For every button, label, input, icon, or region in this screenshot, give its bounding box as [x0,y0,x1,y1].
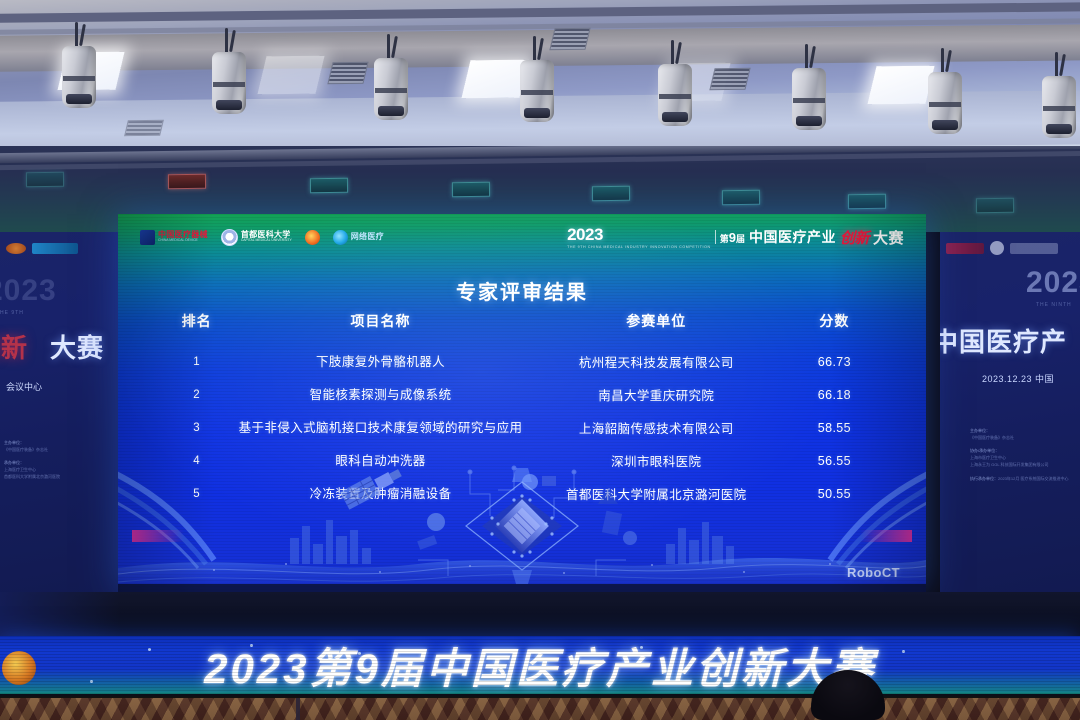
left-poster-venue: 会议中心 [6,380,42,393]
cell-rank: 1 [160,345,233,378]
tech-circuit-chip-artwork [118,464,926,592]
left-poster-fine-print: 主办单位：《中国医疗装备》杂志社 承办单位：上海医疗卫生中心首都医科大学附属北京… [4,440,60,481]
event-logo-name: 中国医疗产业 [749,227,836,247]
cell-unit: 杭州程天科技发展有限公司 [528,345,785,378]
right-poster-date: 2023.12.23 中国 [982,372,1054,385]
column-header-rank: 排名 [160,310,233,345]
cell-score: 66.18 [785,378,884,411]
left-poster-title-accent: 创新 [0,328,28,365]
sponsor-1-sub: CHINA MEDICAL DEVICE [158,239,208,242]
sponsor-2-sub: CAPITAL MEDICAL UNIVERSITY [241,239,292,242]
banner-sparkle [148,648,151,651]
event-logo-year: 2023 [567,225,603,244]
event-edition-suffix: 届 [736,234,745,244]
fascia-led-strip [310,178,348,193]
cell-rank: 2 [160,378,233,411]
cell-unit: 上海韶脑传感技术有限公司 [528,411,785,444]
poster-logo [1010,243,1058,254]
robotct-watermark: RoboCT [847,565,900,580]
sponsor-logo-3 [305,229,320,245]
stage-front-band [0,592,1080,638]
sponsor-logo-4: 网络医疗 [333,229,384,245]
right-poster-logos [946,240,1074,256]
cell-unit: 南昌大学重庆研究院 [528,378,785,411]
table-header-row: 排名 项目名称 参赛单位 分数 [160,310,884,345]
ceiling-panel-light [257,56,324,95]
fascia-led-strip [26,172,64,187]
ceiling-panel-light [461,60,528,99]
carpet-floor [0,698,1080,720]
left-poster-year: 2023 [0,274,57,308]
sponsor-4-name: 网络医疗 [351,233,384,241]
ceiling-vent [709,68,750,90]
ceiling-panel-light [867,66,934,105]
right-wall-poster: 2023 THE NINTH 中国医疗产 2023.12.23 中国 主办单位：… [940,232,1080,604]
poster-logo [946,243,984,254]
left-swoosh [118,470,214,568]
fascia-led-strip [976,198,1014,213]
sponsor-mark-icon [221,229,238,246]
cell-project: 基于非侵入式脑机接口技术康复领域的研究与应用 [233,411,528,444]
sponsor-logo-2: 首都医科大学 CAPITAL MEDICAL UNIVERSITY [221,229,292,245]
sponsor-mark-icon [333,230,348,245]
stage-band-glow [0,592,120,638]
ceiling-vent [124,120,164,136]
sponsor-logo-1: 中国医疗器械 CHINA MEDICAL DEVICE [140,229,208,245]
cell-rank: 3 [160,411,233,444]
right-swoosh [830,470,926,568]
fascia-led-strip [722,190,760,205]
event-edition-prefix: 第 [720,234,729,244]
banner-sparkle [358,652,361,655]
ceiling [0,0,1080,150]
ceiling-vent [549,28,590,50]
main-led-screen: 中国医疗器械 CHINA MEDICAL DEVICE 首都医科大学 CAPIT… [118,214,926,592]
cell-score: 58.55 [785,411,884,444]
cell-project: 智能核素探测与成像系统 [233,378,528,411]
banner-text: 2023第9届中国医疗产业创新大赛 [0,636,1080,696]
cell-project: 下肢康复外骨骼机器人 [233,345,528,378]
banner-sparkle [902,650,905,653]
fascia-led-strip [168,174,206,189]
table-row: 3 基于非侵入式脑机接口技术康复领域的研究与应用 上海韶脑传感技术有限公司 58… [160,411,884,444]
column-header-unit: 参赛单位 [528,310,785,345]
poster-logo [6,243,26,254]
event-logo-year-sub: THE 9TH CHINA MEDICAL INDUSTRY INNOVATIO… [567,245,711,249]
event-logo-tail: 大赛 [873,227,904,248]
right-poster-title: 中国医疗产 [940,322,1067,359]
cell-score: 66.73 [785,345,884,378]
table-row: 2 智能核素探测与成像系统 南昌大学重庆研究院 66.18 [160,378,884,411]
sponsor-mark-icon [140,230,155,245]
left-poster-year-sub: THE 9TH [0,310,24,316]
right-poster-year-sub: THE NINTH [1036,302,1072,308]
left-poster-logos [6,240,116,256]
slide-title: 专家评审结果 [118,276,926,305]
ceiling-vent [327,62,368,84]
event-logo: 2023 THE 9TH CHINA MEDICAL INDUSTRY INNO… [567,225,904,249]
column-header-score: 分数 [785,310,884,345]
event-logo-divider [715,230,716,244]
conference-hall-photo: 2023 THE 9TH 创新 大赛 会议中心 主办单位：《中国医疗装备》杂志社… [0,0,1080,720]
right-poster-year: 2023 [1026,266,1080,300]
fascia-led-strip [848,194,886,209]
stage-support-post [296,698,300,720]
event-edition-number: 9 [729,230,736,245]
banner-sparkle [90,680,93,683]
table-row: 1 下肢康复外骨骼机器人 杭州程天科技发展有限公司 66.73 [160,345,884,378]
sponsor-logo-strip: 中国医疗器械 CHINA MEDICAL DEVICE 首都医科大学 CAPIT… [140,229,384,245]
slide-header: 中国医疗器械 CHINA MEDICAL DEVICE 首都医科大学 CAPIT… [118,222,926,252]
right-poster-fine-print: 主办单位：《中国医疗装备》杂志社 协办/承办单位：上海市医疗卫生中心上海永王为 … [970,428,1068,482]
poster-logo [32,243,78,254]
column-header-project: 项目名称 [233,310,528,345]
bottom-led-banner: 2023第9届中国医疗产业创新大赛 [0,636,1080,700]
sponsor-mark-icon [305,230,320,245]
fascia-led-strip [452,182,490,197]
event-logo-accent-word: 创新 [840,227,869,248]
left-wall-poster: 2023 THE 9TH 创新 大赛 会议中心 主办单位：《中国医疗装备》杂志社… [0,232,122,604]
fascia-led-strip [592,186,630,201]
poster-logo [990,241,1004,255]
left-poster-title: 大赛 [50,328,104,365]
banner-sparkle [640,646,643,649]
satellite-icon [340,464,404,510]
banner-sparkle [250,644,253,647]
